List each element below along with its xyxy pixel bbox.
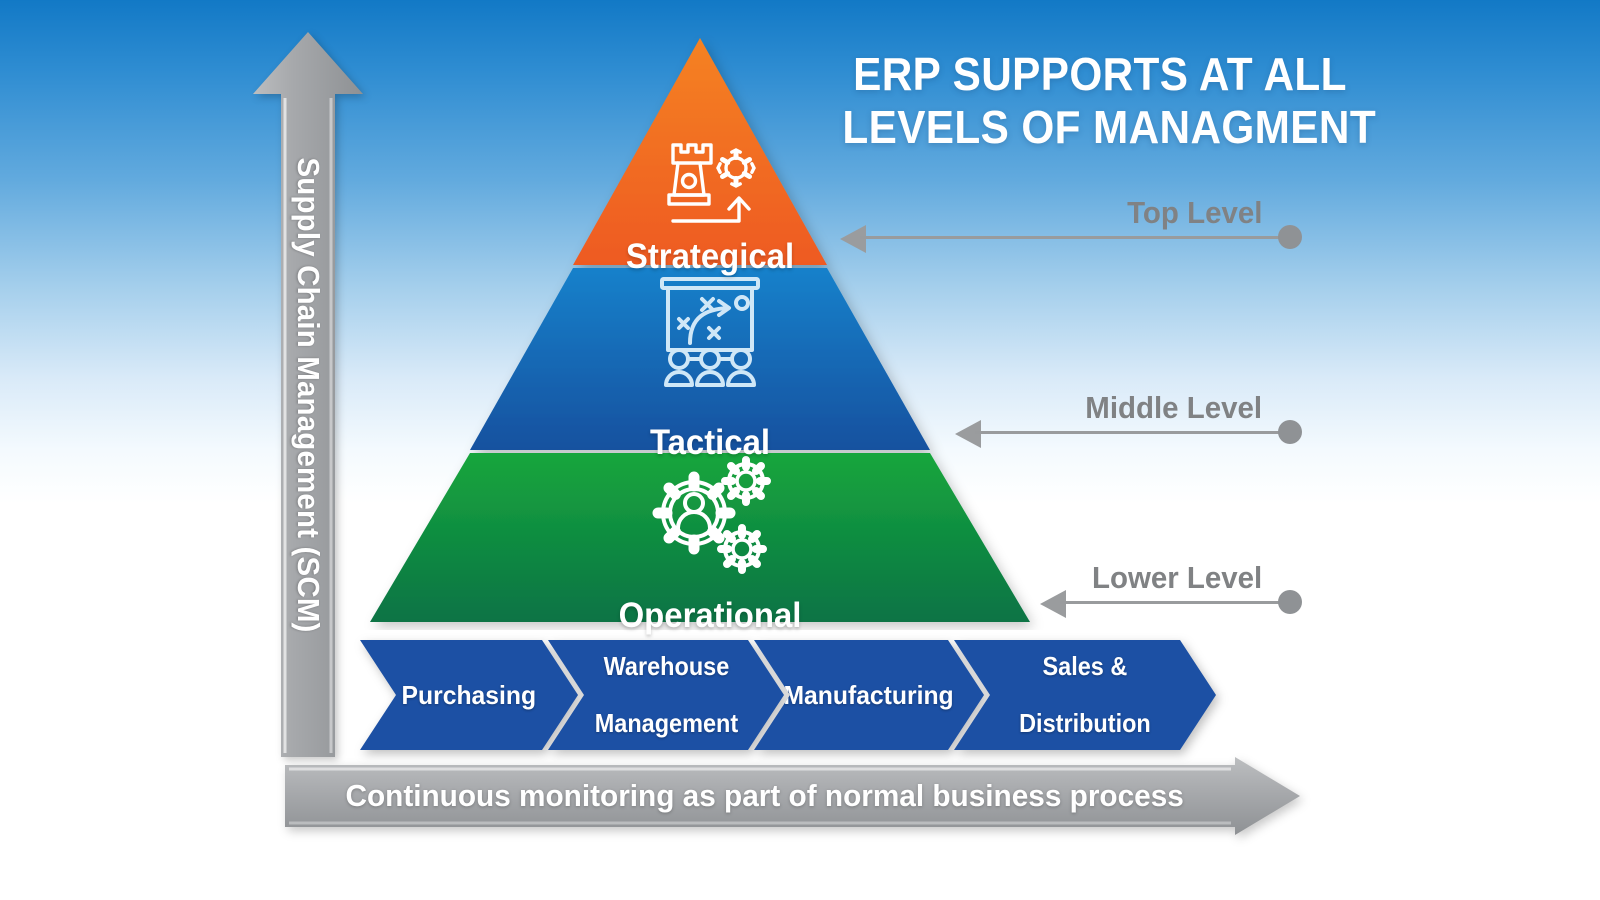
callout-line: [1060, 601, 1280, 604]
callout-top-level-label: Top Level: [1127, 195, 1262, 231]
callout-lower-level: Lower Level: [1040, 560, 1310, 620]
tier-label-operational: Operational: [353, 596, 1067, 636]
strategy-board-team-icon: [648, 275, 772, 405]
callout-dot: [1278, 590, 1302, 614]
chevron-purchasing[interactable]: Purchasing: [360, 640, 578, 750]
callout-middle-level-label: Middle Level: [1085, 390, 1262, 426]
callout-top-level: Top Level: [840, 195, 1310, 255]
chevron-warehouse-management[interactable]: Warehouse Management: [548, 640, 784, 750]
infographic-canvas: ERP SUPPORTS AT ALL LEVELS OF MANAGMENT …: [0, 0, 1600, 900]
chevron-sales-line2: Distribution: [1019, 709, 1151, 738]
chevron-warehouse-line2: Management: [594, 709, 737, 738]
management-levels-pyramid: Strategical Tactical Operational: [330, 30, 1090, 630]
chess-rook-gear-arrow-icon: [655, 135, 765, 225]
arrow-left-icon: [840, 225, 866, 253]
chevron-sales-line1: Sales &: [1019, 652, 1151, 681]
arrow-left-icon: [955, 420, 981, 448]
chevron-sales-distribution-label: Sales & Distribution: [1016, 652, 1155, 738]
callout-dot: [1278, 420, 1302, 444]
chevron-manufacturing-label: Manufacturing: [784, 681, 954, 710]
callout-middle-level: Middle Level: [955, 390, 1310, 450]
callout-dot: [1278, 225, 1302, 249]
gears-person-icon: [642, 450, 778, 580]
callout-line: [975, 431, 1280, 434]
chevron-manufacturing[interactable]: Manufacturing: [754, 640, 984, 750]
chevron-warehouse-line1: Warehouse: [594, 652, 737, 681]
chevron-purchasing-label: Purchasing: [402, 681, 537, 710]
callout-lower-level-label: Lower Level: [1092, 560, 1262, 596]
continuous-monitoring-arrow: [285, 757, 1300, 835]
chevron-sales-distribution[interactable]: Sales & Distribution: [954, 640, 1216, 750]
process-chevron-row: Purchasing Warehouse Management Manufact…: [360, 640, 1260, 750]
arrow-left-icon: [1040, 590, 1066, 618]
callout-line: [860, 236, 1280, 239]
chevron-warehouse-management-label: Warehouse Management: [591, 652, 742, 738]
